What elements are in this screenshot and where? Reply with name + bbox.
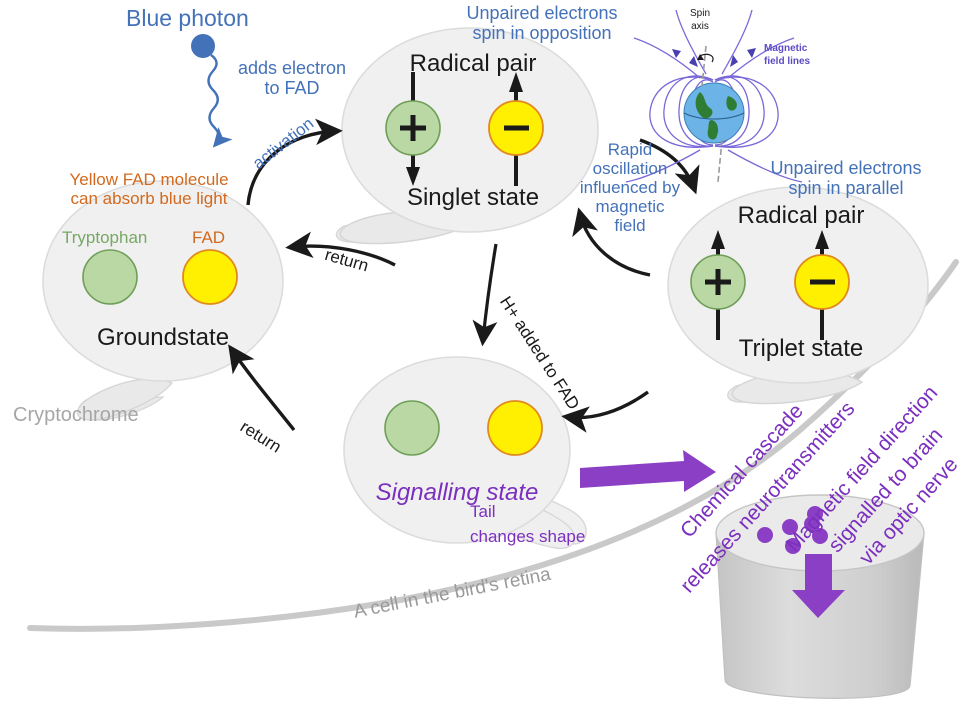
photon-wavy-arrow — [209, 55, 220, 144]
tryptophan-circle-groundstate — [83, 250, 137, 304]
unpaired-opposition-label: Unpaired electrons spin in opposition — [446, 3, 638, 43]
photon-dot — [191, 34, 215, 58]
groundstate-caption: Yellow FAD molecule can absorb blue ligh… — [58, 170, 240, 208]
diagram-canvas: Blue photon adds electron to FAD activat… — [0, 0, 960, 720]
tryptophan-circle-signalling — [385, 401, 439, 455]
triplet-state-label: Triplet state — [708, 336, 894, 363]
unpaired-parallel-label: Unpaired electrons spin in parallel — [748, 158, 944, 198]
blue-photon-label: Blue photon — [126, 6, 256, 32]
spin-axis-label: Spin axis — [672, 8, 728, 33]
fad-circle-signalling — [488, 401, 542, 455]
magnetic-field-lines-label: Magnetic field lines — [764, 42, 810, 68]
blue-photon — [191, 34, 219, 144]
chemical-cascade-arrow — [580, 450, 716, 492]
triplet-radical-pair-label: Radical pair — [708, 203, 894, 230]
groundstate-ellipse — [43, 181, 283, 420]
cryptochrome-label: Cryptochrome — [13, 404, 139, 426]
return-arrow-bottom — [232, 350, 294, 430]
adds-electron-label: adds electron to FAD — [226, 58, 358, 98]
tail-label: Tail changes shape — [470, 500, 600, 549]
groundstate-state-label: Groundstate — [68, 325, 258, 352]
singlet-state-label: Singlet state — [378, 185, 568, 212]
fad-label: FAD — [192, 228, 225, 247]
h-added-arrow — [483, 244, 496, 340]
rapid-oscillation-label: Rapid oscillation influenced by magnetic… — [571, 140, 689, 235]
singlet-radical-pair-label: Radical pair — [380, 51, 566, 78]
tryptophan-label: Tryptophan — [62, 228, 147, 247]
fad-circle-groundstate — [183, 250, 237, 304]
